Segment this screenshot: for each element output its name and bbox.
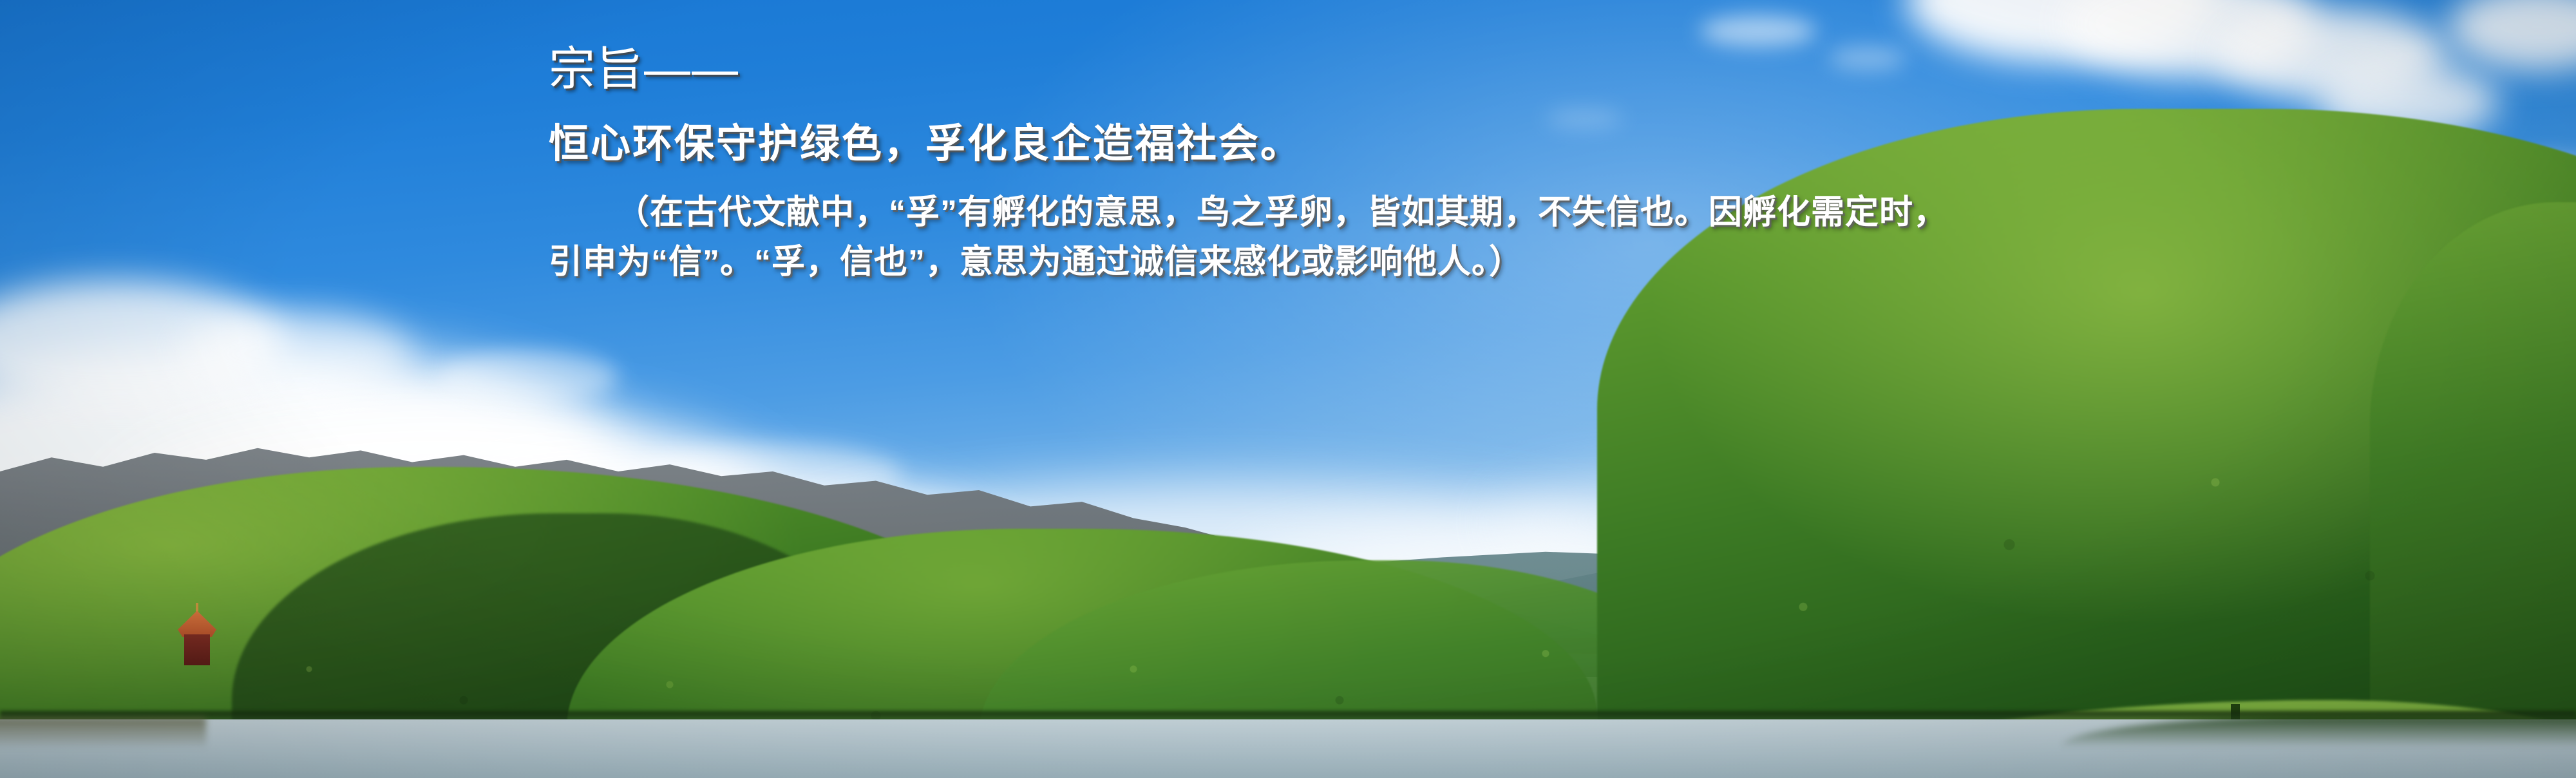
- banner-heading: 宗旨——: [549, 43, 2043, 97]
- banner-note: （在古代文献中，“孚”有孵化的意思，鸟之孚卵，皆如其期，不失信也。因孵化需定时，…: [549, 188, 1953, 287]
- banner-text-block: 宗旨—— 恒心环保守护绿色，孚化良企造福社会。 （在古代文献中，“孚”有孵化的意…: [549, 43, 2043, 287]
- red-pavilion: [178, 611, 216, 665]
- pavilion-roof: [178, 611, 216, 637]
- pavilion-body: [184, 634, 211, 665]
- banner-tagline: 恒心环保守护绿色，孚化良企造福社会。: [549, 120, 2043, 168]
- hero-banner: 宗旨—— 恒心环保守护绿色，孚化良企造福社会。 （在古代文献中，“孚”有孵化的意…: [0, 0, 2576, 778]
- lake-edge-left: [0, 717, 206, 748]
